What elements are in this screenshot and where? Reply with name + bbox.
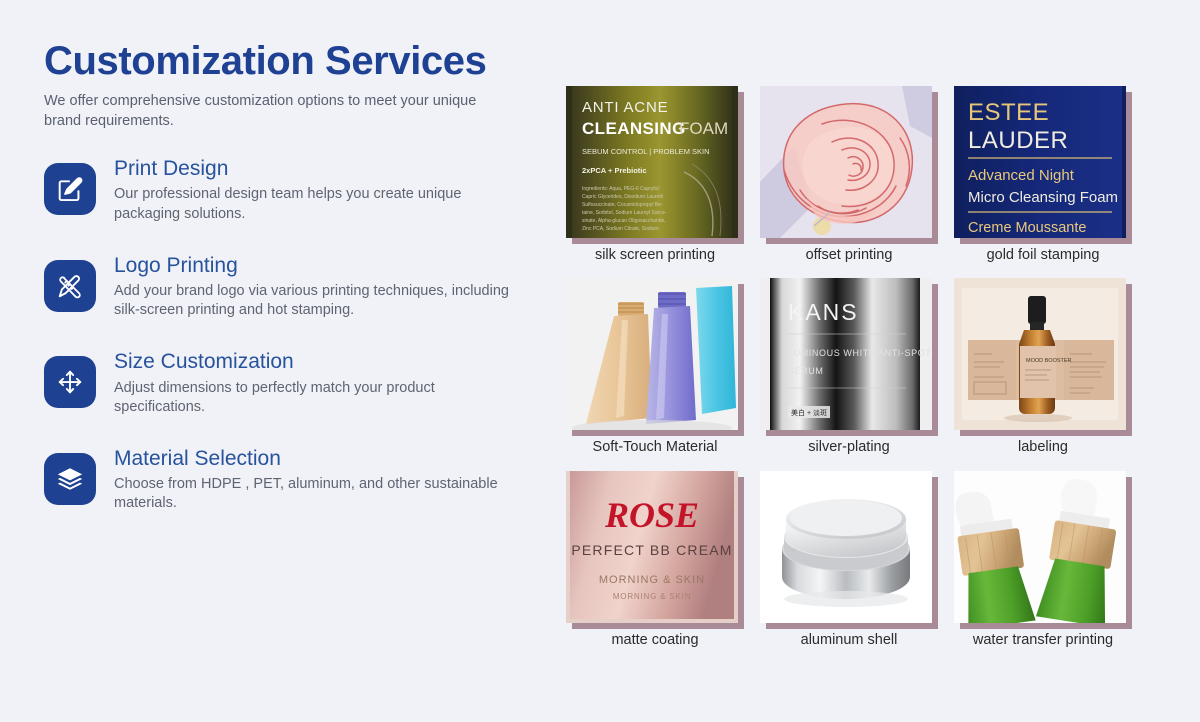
feature-print-design[interactable]: Print Design Our professional design tea… [44, 157, 544, 224]
aluminum-jar-image [760, 471, 932, 623]
label-line2b: FOAM [679, 119, 728, 138]
sub-line1: Advanced Night [968, 167, 1075, 184]
gallery-caption: Soft-Touch Material [566, 439, 744, 456]
svg-text:Zinc PCA, Sodium Citrate, Sodi: Zinc PCA, Sodium Citrate, Sodium [582, 226, 659, 232]
cleansing-foam-tube-image: ANTI ACNE CLEANSING FOAM SEBUM CONTROL |… [566, 86, 738, 238]
feature-size-customization[interactable]: Size Customization Adjust dimensions to … [44, 350, 544, 417]
page-intro: We offer comprehensive customization opt… [44, 92, 494, 131]
frosted-tubes-image [566, 278, 738, 430]
product-line2: SERUM [788, 366, 824, 376]
feature-body: Size Customization Adjust dimensions to … [114, 350, 514, 417]
svg-text:Ingredients: Aqua, PEG-6 Capry: Ingredients: Aqua, PEG-6 Caprylic/ [582, 186, 660, 192]
gallery-caption: offset printing [760, 247, 938, 264]
pen-ruler-icon [44, 260, 96, 312]
feature-body: Print Design Our professional design tea… [114, 157, 514, 224]
thumbnail-wrapper: ANTI ACNE CLEANSING FOAM SEBUM CONTROL |… [566, 86, 738, 238]
brand-label: ROSE [604, 495, 699, 535]
feature-body: Material Selection Choose from HDPE , PE… [114, 447, 514, 514]
product-gallery-grid: ANTI ACNE CLEANSING FOAM SEBUM CONTROL |… [566, 86, 1156, 649]
brand-line2: LAUDER [968, 127, 1068, 154]
customization-services-page: Customization Services We offer comprehe… [0, 0, 1200, 722]
brand-label: KANS [788, 299, 859, 325]
product-line1: LUMINOUS WHITE ANTI-SPOT [788, 348, 931, 358]
product-line1: PERFECT BB CREAM [571, 542, 732, 558]
feature-description: Choose from HDPE , PET, aluminum, and ot… [114, 475, 514, 514]
thumbnail-wrapper: KANS LUMINOUS WHITE ANTI-SPOT SERUM 美白 +… [760, 278, 932, 430]
gallery-caption: gold foil stamping [954, 247, 1132, 264]
gallery-caption: aluminum shell [760, 632, 938, 649]
gallery-tile-aluminum-shell[interactable]: aluminum shell [760, 471, 938, 649]
svg-text:sinate, Alpha-glucan Oligosacc: sinate, Alpha-glucan Oligosaccharide, [582, 218, 666, 224]
page-title: Customization Services [44, 40, 544, 82]
feature-logo-printing[interactable]: Logo Printing Add your brand logo via va… [44, 254, 544, 321]
rose-bb-cream-image: ROSE PERFECT BB CREAM MORNING & SKIN MOR… [566, 471, 738, 623]
product-line2: MORNING & SKIN [599, 574, 705, 586]
thumbnail-wrapper [566, 278, 738, 430]
gallery-caption: matte coating [566, 632, 744, 649]
kans-serum-bottle-image: KANS LUMINOUS WHITE ANTI-SPOT SERUM 美白 +… [760, 278, 932, 430]
gallery-tile-gold-foil-stamping[interactable]: ESTEE LAUDER Advanced Night Micro Cleans… [954, 86, 1132, 264]
feature-description: Adjust dimensions to perfectly match you… [114, 379, 514, 418]
dropper-bottle-label-image: MOOD BOOSTER [954, 278, 1126, 430]
thumbnail-wrapper: MOOD BOOSTER [954, 278, 1126, 430]
svg-text:taine, Sorbitol, Sodium Lauroy: taine, Sorbitol, Sodium Lauroyl Sarco- [582, 210, 667, 216]
arrows-four-directions-icon [44, 356, 96, 408]
feature-title: Material Selection [114, 447, 514, 470]
gallery-tile-offset-printing[interactable]: offset printing [760, 86, 938, 264]
estee-lauder-box-image: ESTEE LAUDER Advanced Night Micro Cleans… [954, 86, 1126, 238]
gallery-tile-water-transfer-printing[interactable]: water transfer printing [954, 471, 1132, 649]
label-title: MOOD BOOSTER [1026, 358, 1072, 364]
left-column: Customization Services We offer comprehe… [44, 40, 544, 514]
gallery-caption: silver-plating [760, 439, 938, 456]
feature-title: Size Customization [114, 350, 514, 373]
thumbnail-wrapper [760, 86, 932, 238]
product-line3: MORNING & SKIN [613, 592, 691, 601]
label-line1: ANTI ACNE [582, 99, 668, 116]
layers-stack-icon [44, 453, 96, 505]
gallery-caption: silk screen printing [566, 247, 744, 264]
brand-line1: ESTEE [968, 99, 1049, 126]
cjk-badge: 美白 + 淡斑 [791, 408, 827, 417]
svg-text:Sulfosuccinate, Cocamidopropyl: Sulfosuccinate, Cocamidopropyl Be- [582, 202, 663, 208]
feature-title: Logo Printing [114, 254, 514, 277]
thumbnail-wrapper [760, 471, 932, 623]
thumbnail-wrapper [954, 471, 1126, 623]
feature-body: Logo Printing Add your brand logo via va… [114, 254, 514, 321]
label-line2a: CLEANSING [582, 119, 686, 138]
svg-text:Capric Glycerides, Disodium La: Capric Glycerides, Disodium Laureth [582, 194, 664, 200]
gallery-tile-soft-touch-material[interactable]: Soft-Touch Material [566, 278, 744, 456]
gallery-tile-silver-plating[interactable]: KANS LUMINOUS WHITE ANTI-SPOT SERUM 美白 +… [760, 278, 938, 456]
feature-material-selection[interactable]: Material Selection Choose from HDPE , PE… [44, 447, 544, 514]
edit-pencil-square-icon [44, 163, 96, 215]
feature-title: Print Design [114, 157, 514, 180]
feature-description: Our professional design team helps you c… [114, 185, 514, 224]
thumbnail-wrapper: ESTEE LAUDER Advanced Night Micro Cleans… [954, 86, 1126, 238]
thumbnail-wrapper: ROSE PERFECT BB CREAM MORNING & SKIN MOR… [566, 471, 738, 623]
feature-description: Add your brand logo via various printing… [114, 282, 514, 321]
sub-line2: Micro Cleansing Foam [968, 189, 1118, 206]
gallery-caption: labeling [954, 439, 1132, 456]
gallery-tile-labeling[interactable]: MOOD BOOSTER labeling [954, 278, 1132, 456]
label-line4: 2xPCA + Prebiotic [582, 166, 647, 175]
label-line3: SEBUM CONTROL | PROBLEM SKIN [582, 147, 710, 156]
sub-line3: Creme Moussante [968, 220, 1086, 236]
green-dropper-bottles-image [954, 471, 1126, 623]
gallery-caption: water transfer printing [954, 632, 1132, 649]
gallery-tile-silk-screen-printing[interactable]: ANTI ACNE CLEANSING FOAM SEBUM CONTROL |… [566, 86, 744, 264]
watercolor-rose-image [760, 86, 932, 238]
gallery-tile-matte-coating[interactable]: ROSE PERFECT BB CREAM MORNING & SKIN MOR… [566, 471, 744, 649]
